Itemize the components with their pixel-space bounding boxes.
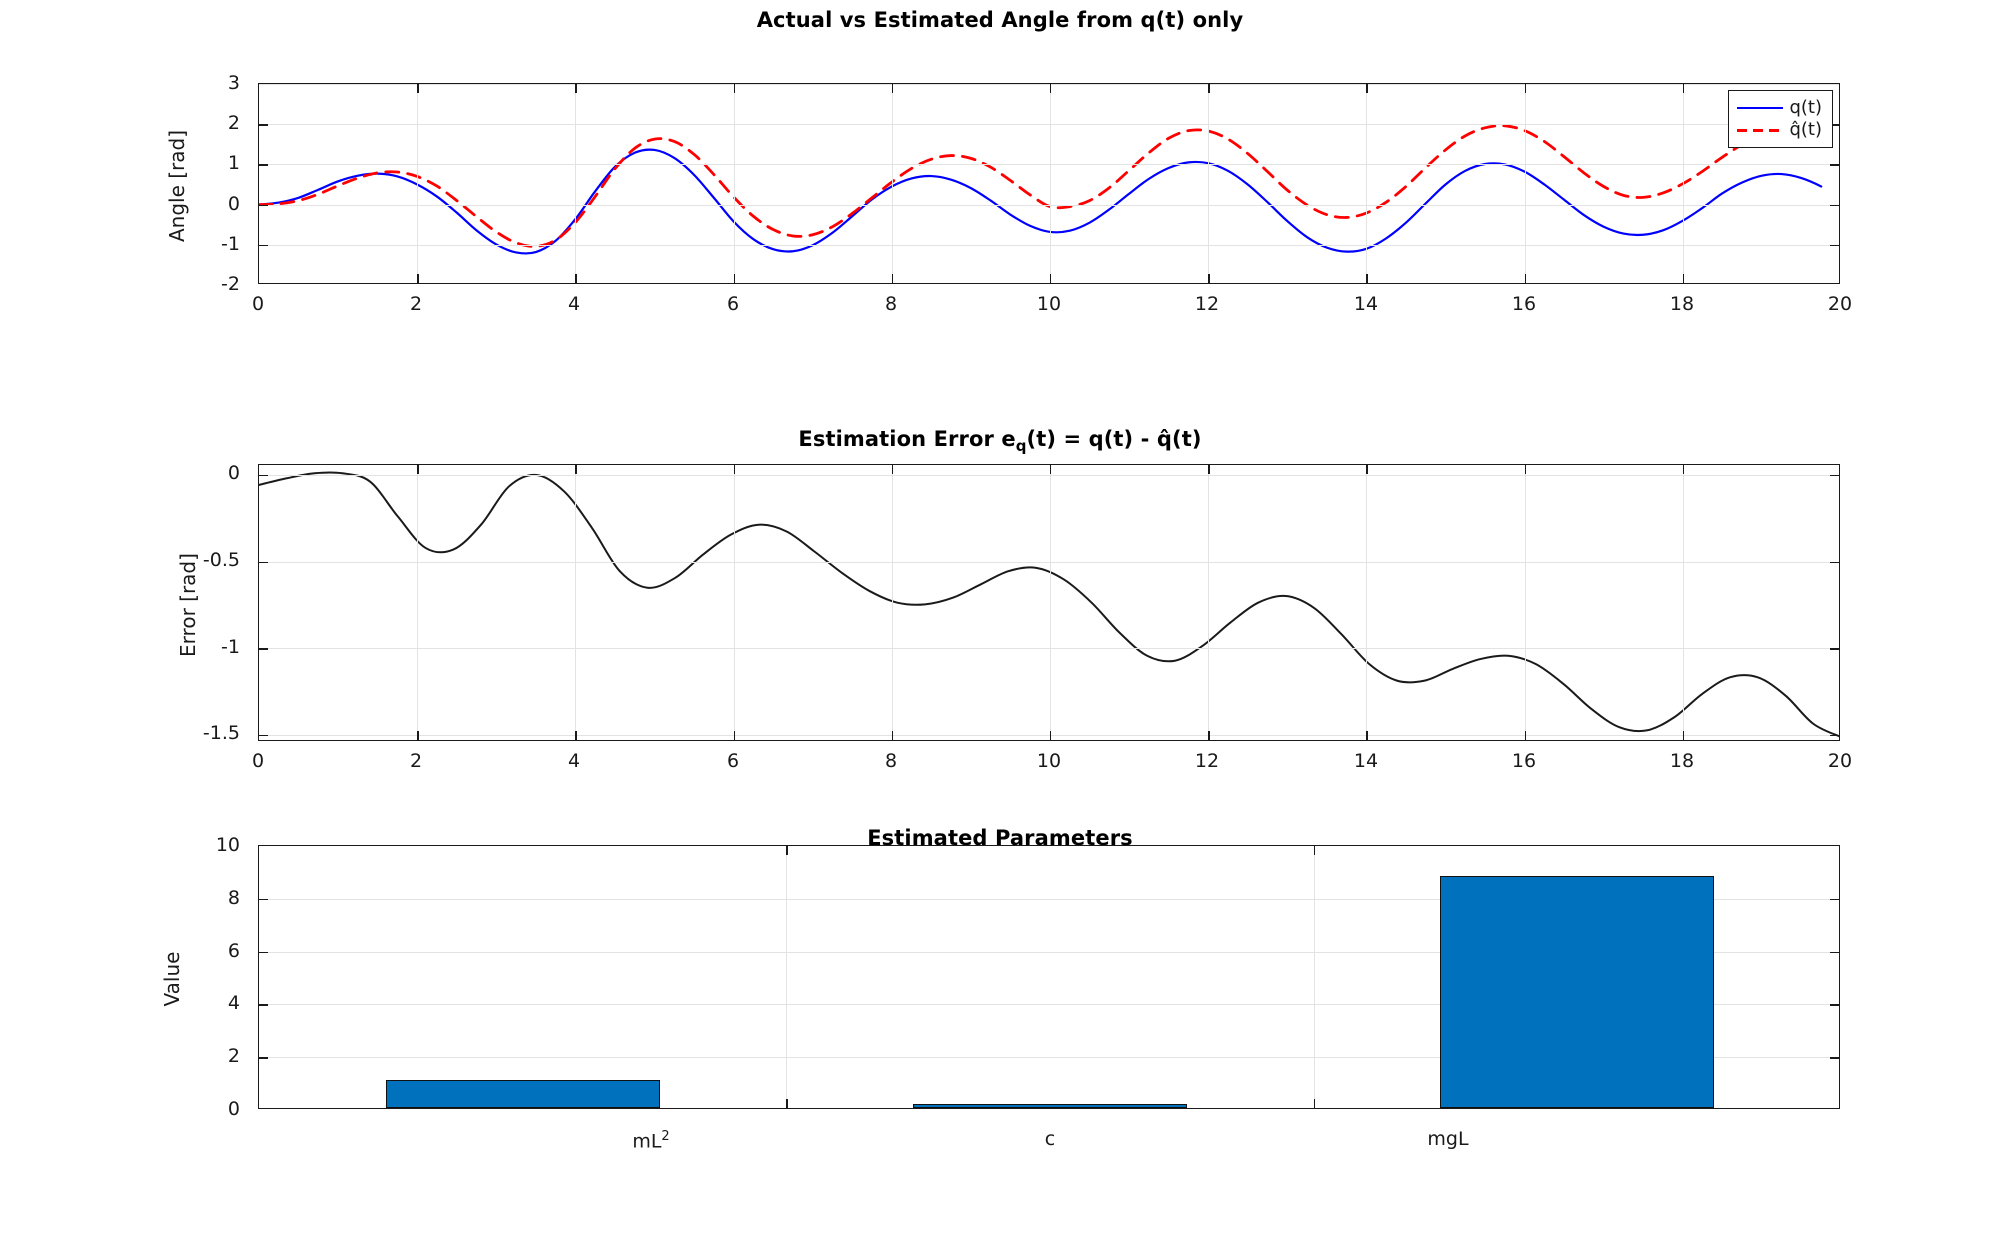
xtick-mark-top (1314, 846, 1315, 855)
angle-xtick-18: 18 (1652, 295, 1712, 314)
legend-item-qhat: q̂(t) (1737, 119, 1822, 141)
error-ylabel: Error [rad] (176, 515, 200, 695)
gridline (892, 84, 893, 283)
xtick-mark (1683, 274, 1684, 283)
error-xtick-12: 12 (1177, 752, 1237, 771)
params-ylabel: Value (160, 919, 184, 1039)
xtick-mark-top (575, 84, 576, 93)
gridline (417, 465, 418, 740)
gridline (259, 84, 1839, 85)
angle-xtick-2: 2 (386, 295, 446, 314)
error-xtick-0: 0 (228, 752, 288, 771)
params-ytick-2: 2 (180, 1047, 240, 1066)
legend-label-q: q(t) (1789, 99, 1822, 117)
ytick-mark (259, 1057, 268, 1058)
error-xtick-2: 2 (386, 752, 446, 771)
params-ytick-4: 4 (180, 994, 240, 1013)
xtick-mark-top (734, 465, 735, 474)
xtick-mark (1683, 731, 1684, 740)
xtick-mark (1050, 274, 1051, 283)
xtick-mark-top (1208, 84, 1209, 93)
error-xtick-10: 10 (1019, 752, 1079, 771)
xtick-mark-top (1525, 465, 1526, 474)
ytick-mark-right (1830, 1004, 1839, 1005)
error-title-part-b: (t) = q(t) - q̂(t) (1027, 427, 1202, 451)
xtick-mark (892, 274, 893, 283)
bar-mgL (1440, 876, 1714, 1108)
error-title-subscript: q (1016, 437, 1027, 455)
angle-xtick-12: 12 (1177, 295, 1237, 314)
ytick-mark (259, 205, 268, 206)
xtick-mark (1208, 731, 1209, 740)
angle-ytick-1: 1 (190, 154, 240, 173)
xtick-mark-top (417, 465, 418, 474)
ytick-mark (259, 124, 268, 125)
ytick-mark (259, 1004, 268, 1005)
gridline (1050, 84, 1051, 283)
xtick-mark (1366, 731, 1367, 740)
gridline (1366, 84, 1367, 283)
angle-xtick-14: 14 (1336, 295, 1396, 314)
xtick-mark-top (1366, 465, 1367, 474)
angle-xtick-10: 10 (1019, 295, 1079, 314)
legend-label-qhat: q̂(t) (1789, 121, 1822, 139)
xtick-mark-top (575, 465, 576, 474)
params-ytick-6: 6 (180, 942, 240, 961)
ytick-mark (259, 648, 268, 649)
error-axes (258, 464, 1840, 741)
xtick-mark (1525, 274, 1526, 283)
xtick-mark (575, 274, 576, 283)
xtick-mark-top (1683, 465, 1684, 474)
matlab-figure: Actual vs Estimated Angle from q(t) only (0, 0, 2000, 1250)
xtick-mark-top (417, 84, 418, 93)
xtick-mark-top (734, 84, 735, 93)
xtick-mark (1525, 731, 1526, 740)
xtick-mark-top (892, 465, 893, 474)
error-xtick-14: 14 (1336, 752, 1396, 771)
xtick-mark (786, 1099, 787, 1108)
xtick-mark (734, 274, 735, 283)
gridline (1050, 465, 1051, 740)
angle-xtick-20: 20 (1810, 295, 1870, 314)
error-curve (259, 465, 1839, 740)
gridline (1683, 465, 1684, 740)
legend-line-solid-icon (1737, 102, 1781, 114)
ytick-mark-right (1830, 164, 1839, 165)
angle-xtick-0: 0 (228, 295, 288, 314)
bar-mL^2 (386, 1080, 660, 1109)
ytick-mark-right (1830, 562, 1839, 563)
xtick-mark (575, 731, 576, 740)
error-series-0 (259, 472, 1839, 737)
error-xtick-16: 16 (1494, 752, 1554, 771)
ytick-mark-right (1830, 245, 1839, 246)
xtick-mark (1314, 1099, 1315, 1108)
params-axes (258, 845, 1840, 1109)
error-title-part-a: Estimation Error e (798, 427, 1015, 451)
angle-ytick-3: 3 (190, 74, 240, 93)
params-ytick-8: 8 (180, 889, 240, 908)
ytick-mark (259, 475, 268, 476)
gridline (259, 475, 1839, 476)
ytick-mark-right (1830, 1057, 1839, 1058)
gridline (575, 84, 576, 283)
angle-ytick-m1: -1 (190, 235, 240, 254)
params-xtick-mgL: mgL (1388, 1130, 1508, 1149)
gridline (1525, 465, 1526, 740)
ytick-mark (259, 952, 268, 953)
bar-c (913, 1104, 1187, 1108)
angle-series-1 (259, 126, 1821, 247)
error-xtick-20: 20 (1810, 752, 1870, 771)
params-ytick-0: 0 (180, 1100, 240, 1119)
ytick-mark-right (1830, 735, 1839, 736)
gridline (259, 124, 1839, 125)
xtick-mark (734, 731, 735, 740)
xtick-mark (1050, 731, 1051, 740)
xtick-mark-top (1525, 84, 1526, 93)
legend-item-q: q(t) (1737, 97, 1822, 119)
xtick-mark (417, 274, 418, 283)
angle-ytick-2: 2 (190, 114, 240, 133)
error-xtick-18: 18 (1652, 752, 1712, 771)
xtick-mark-top (892, 84, 893, 93)
ytick-mark (259, 245, 268, 246)
angle-xtick-16: 16 (1494, 295, 1554, 314)
ytick-mark-right (1830, 899, 1839, 900)
gridline (417, 84, 418, 283)
gridline (259, 164, 1839, 165)
xtick-label-mL2-base: mL (632, 1130, 661, 1152)
gridline (1208, 84, 1209, 283)
gridline (259, 648, 1839, 649)
error-xtick-6: 6 (703, 752, 763, 771)
xtick-label-mL2-exp: 2 (661, 1129, 669, 1144)
gridline (259, 735, 1839, 736)
angle-xtick-4: 4 (544, 295, 604, 314)
xtick-mark-top (786, 846, 787, 855)
gridline (259, 245, 1839, 246)
params-ytick-10: 10 (180, 836, 240, 855)
ytick-mark (259, 562, 268, 563)
bars-layer (259, 846, 1839, 1108)
gridline (259, 562, 1839, 563)
gridline (734, 84, 735, 283)
xtick-mark (1366, 274, 1367, 283)
gridline (892, 465, 893, 740)
error-xtick-8: 8 (861, 752, 921, 771)
angle-axes: q(t) q̂(t) (258, 83, 1840, 284)
xtick-mark-top (1208, 465, 1209, 474)
error-ytick-m15: -1.5 (170, 724, 240, 743)
ytick-mark (259, 164, 268, 165)
xtick-mark-top (1050, 465, 1051, 474)
xtick-mark-top (1683, 84, 1684, 93)
angle-legend[interactable]: q(t) q̂(t) (1728, 90, 1833, 148)
angle-curves (259, 84, 1839, 283)
xtick-mark (417, 731, 418, 740)
ytick-mark-right (1830, 648, 1839, 649)
angle-plot-title: Actual vs Estimated Angle from q(t) only (0, 8, 2000, 32)
ytick-mark-right (1830, 952, 1839, 953)
params-xtick-mL2: mL2 (591, 1130, 711, 1151)
gridline (1683, 84, 1684, 283)
xtick-mark (892, 731, 893, 740)
gridline (575, 465, 576, 740)
ytick-mark (259, 735, 268, 736)
gridline (1525, 84, 1526, 283)
xtick-mark-top (1050, 84, 1051, 93)
legend-line-dashed-icon (1737, 124, 1781, 136)
angle-xtick-8: 8 (861, 295, 921, 314)
angle-ylabel: Angle [rad] (165, 96, 189, 276)
ytick-mark-right (1830, 205, 1839, 206)
gridline (1208, 465, 1209, 740)
ytick-mark-right (1830, 475, 1839, 476)
xtick-mark-top (1366, 84, 1367, 93)
gridline (259, 205, 1839, 206)
angle-ytick-m2: -2 (190, 275, 240, 294)
error-plot-title: Estimation Error eq(t) = q(t) - q̂(t) (0, 427, 2000, 451)
error-ytick-0: 0 (170, 464, 240, 483)
gridline (734, 465, 735, 740)
angle-ytick-0: 0 (190, 195, 240, 214)
ytick-mark (259, 899, 268, 900)
xtick-mark (1208, 274, 1209, 283)
params-xtick-c: c (990, 1130, 1110, 1149)
error-xtick-4: 4 (544, 752, 604, 771)
gridline (1366, 465, 1367, 740)
angle-xtick-6: 6 (703, 295, 763, 314)
